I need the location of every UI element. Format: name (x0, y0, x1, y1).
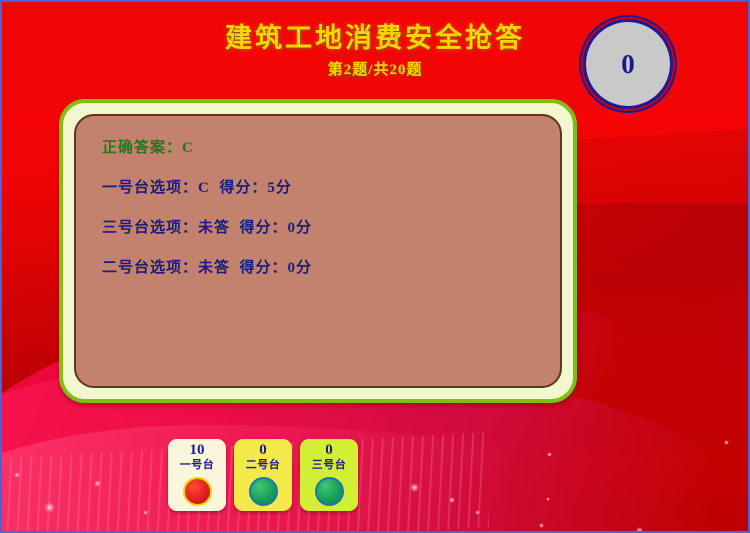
score-card-station-3[interactable]: 0 三号台 (300, 439, 358, 511)
answer-panel: 正确答案：C 一号台选项：C 得分：5分 三号台选项：未答 得分：0分 二号台选… (59, 99, 577, 403)
quiz-screen: 建筑工地消费安全抢答 第2题/共20题 0 正确答案：C 一号台选项：C 得分：… (0, 0, 750, 533)
countdown-value: 0 (621, 51, 635, 78)
score-label-station-3: 三号台 (312, 459, 347, 473)
correct-answer-line: 正确答案：C (102, 136, 560, 157)
buzzer-button-station-1[interactable] (183, 477, 212, 506)
score-value-station-3: 0 (325, 443, 333, 459)
score-label-station-2: 二号台 (246, 459, 281, 473)
contestant-result-line-3: 二号台选项：未答 得分：0分 (102, 256, 560, 277)
score-value-station-2: 0 (259, 443, 267, 459)
countdown-timer[interactable]: 0 (583, 19, 673, 109)
score-label-station-1: 一号台 (180, 459, 215, 473)
buzzer-button-station-3[interactable] (315, 477, 344, 506)
buzzer-button-station-2[interactable] (249, 477, 278, 506)
answer-panel-content: 正确答案：C 一号台选项：C 得分：5分 三号台选项：未答 得分：0分 二号台选… (74, 114, 562, 388)
scoreboard: 10 一号台 0 二号台 0 三号台 (168, 439, 358, 511)
contestant-result-line-1: 一号台选项：C 得分：5分 (102, 176, 560, 197)
contestant-result-line-2: 三号台选项：未答 得分：0分 (102, 216, 560, 237)
score-value-station-1: 10 (190, 443, 205, 459)
score-card-station-1[interactable]: 10 一号台 (168, 439, 226, 511)
score-card-station-2[interactable]: 0 二号台 (234, 439, 292, 511)
